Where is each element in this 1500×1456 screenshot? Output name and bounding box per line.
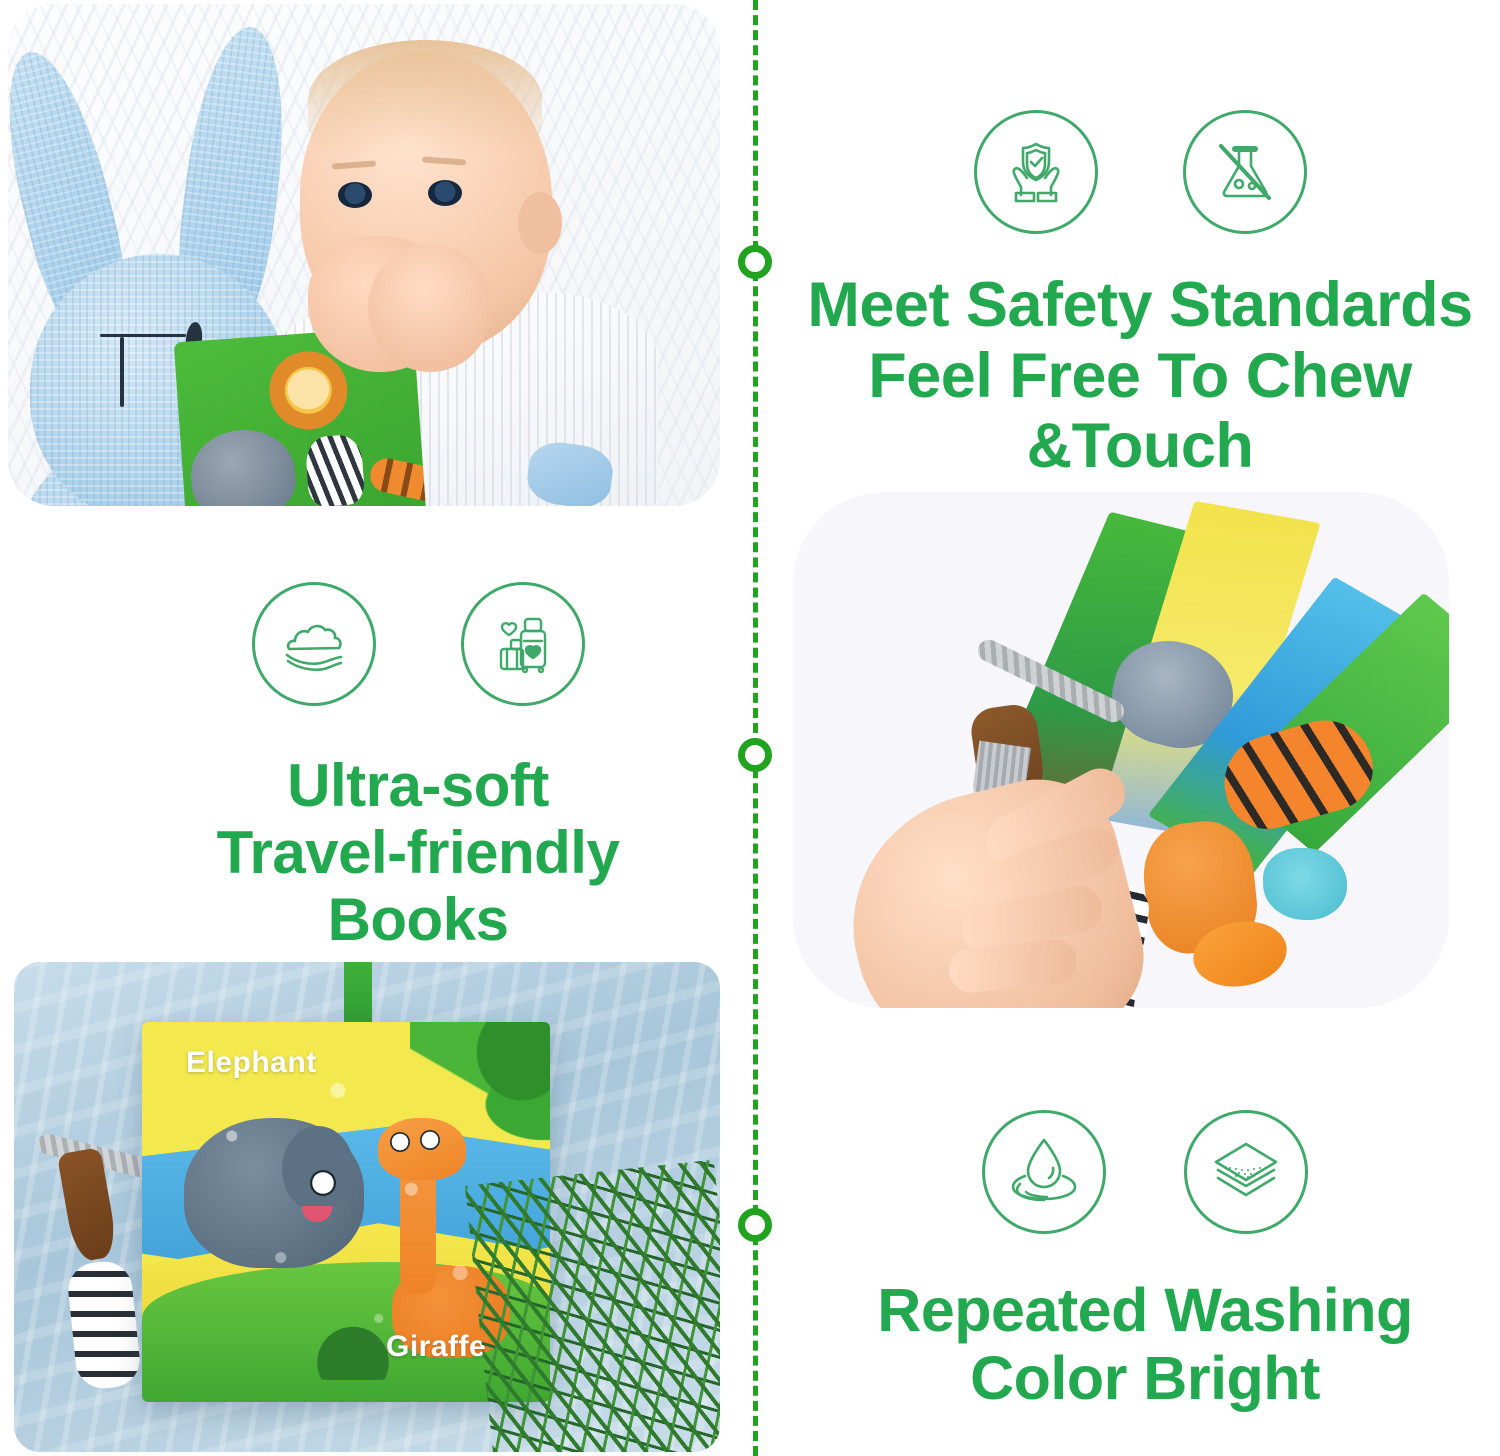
- water-drop-ripple-icon: [982, 1110, 1106, 1234]
- rosemary-sprigs: [465, 1160, 720, 1452]
- no-chemicals-flask-icon: [1183, 110, 1307, 234]
- feature-washing-line2: Color Bright: [970, 1344, 1320, 1412]
- bunny-nose: [100, 334, 186, 337]
- baby-eye: [338, 182, 372, 208]
- feature-soft-text: Ultra-soft Travel-friendly Books: [128, 752, 708, 954]
- feature-safety-line2: Feel Free To Chew &Touch: [868, 341, 1411, 482]
- baby-ear: [518, 192, 562, 254]
- bunny-mouth: [120, 337, 124, 407]
- baby-eye: [428, 180, 462, 206]
- fabric-layers-icon: [1184, 1110, 1308, 1234]
- infographic-page: Meet Safety Standards Feel Free To Chew …: [0, 0, 1500, 1456]
- feature-safety: Meet Safety Standards Feel Free To Chew …: [790, 110, 1490, 482]
- soft-cloud-icon: [252, 582, 376, 706]
- baby-hair: [308, 40, 542, 160]
- baby-hand: [368, 244, 492, 372]
- photo-baby-chewing-book: [8, 4, 720, 506]
- feature-repeated-washing: Repeated Washing Color Bright: [795, 1110, 1495, 1413]
- travel-luggage-heart-icon: [461, 582, 585, 706]
- tiger-tail-tag: [367, 455, 426, 504]
- feature-washing-line1: Repeated Washing: [877, 1276, 1412, 1344]
- shield-hands-icon: [974, 110, 1098, 234]
- teether-tag: [1263, 848, 1347, 920]
- feature-safety-icons: [790, 110, 1490, 234]
- feature-soft-line2: Travel-friendly Books: [217, 819, 620, 953]
- photo-hand-squeezing-book: [793, 492, 1449, 1008]
- feature-soft-icons: [128, 582, 708, 706]
- feature-washing-icons: [795, 1110, 1495, 1234]
- zebra-illustration: [305, 434, 366, 506]
- feature-soft-line1: Ultra-soft: [287, 752, 549, 819]
- feature-ultra-soft: Ultra-soft Travel-friendly Books: [128, 582, 708, 954]
- divider-ring-marker: [738, 738, 772, 772]
- divider-ring-marker: [738, 1208, 772, 1242]
- photo-book-in-water: Elephant Giraffe: [14, 962, 720, 1452]
- elephant-illustration: [188, 427, 298, 506]
- feature-washing-text: Repeated Washing Color Bright: [795, 1276, 1495, 1413]
- divider-ring-marker: [738, 245, 772, 279]
- feature-safety-line1: Meet Safety Standards: [807, 270, 1472, 340]
- feature-safety-text: Meet Safety Standards Feel Free To Chew …: [790, 270, 1490, 482]
- vertical-dashed-divider: [751, 0, 759, 1456]
